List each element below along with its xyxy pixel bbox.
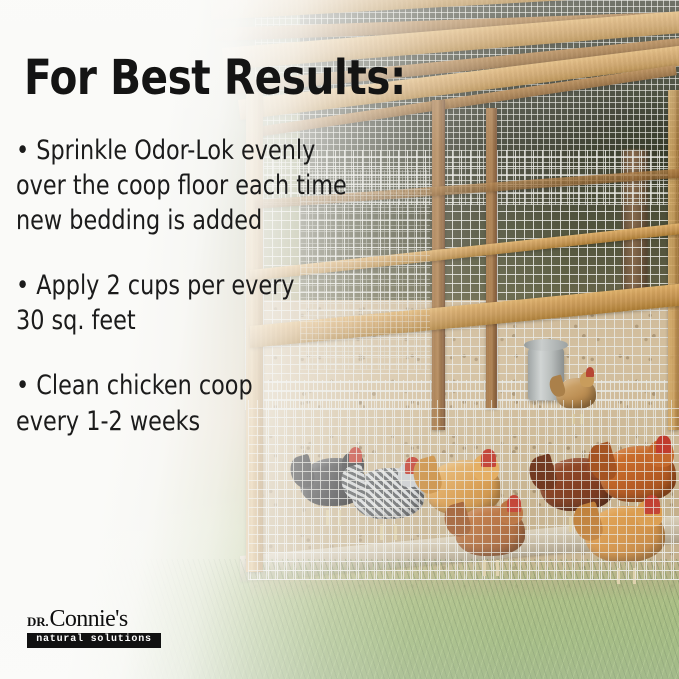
instructions-list: • Sprinkle Odor-Lok evenly over the coop… (16, 133, 396, 439)
list-item: • Apply 2 cups per every 30 sq. feet (16, 268, 366, 338)
logo-prefix: DR. (27, 615, 48, 628)
promo-graphic: For Best Results: • Sprinkle Odor-Lok ev… (0, 0, 679, 679)
page-title: For Best Results: (24, 54, 406, 102)
logo-name: Connie's (49, 607, 127, 631)
brand-logo: DR. Connie's natural solutions (27, 607, 169, 648)
list-item: • Clean chicken coop every 1-2 weeks (16, 368, 366, 438)
logo-wordmark: DR. Connie's (27, 607, 169, 631)
text-content: For Best Results: • Sprinkle Odor-Lok ev… (0, 0, 679, 679)
logo-tagline-bar: natural solutions (27, 633, 161, 648)
list-item: • Sprinkle Odor-Lok evenly over the coop… (16, 133, 366, 238)
logo-tagline: natural solutions (31, 635, 157, 645)
